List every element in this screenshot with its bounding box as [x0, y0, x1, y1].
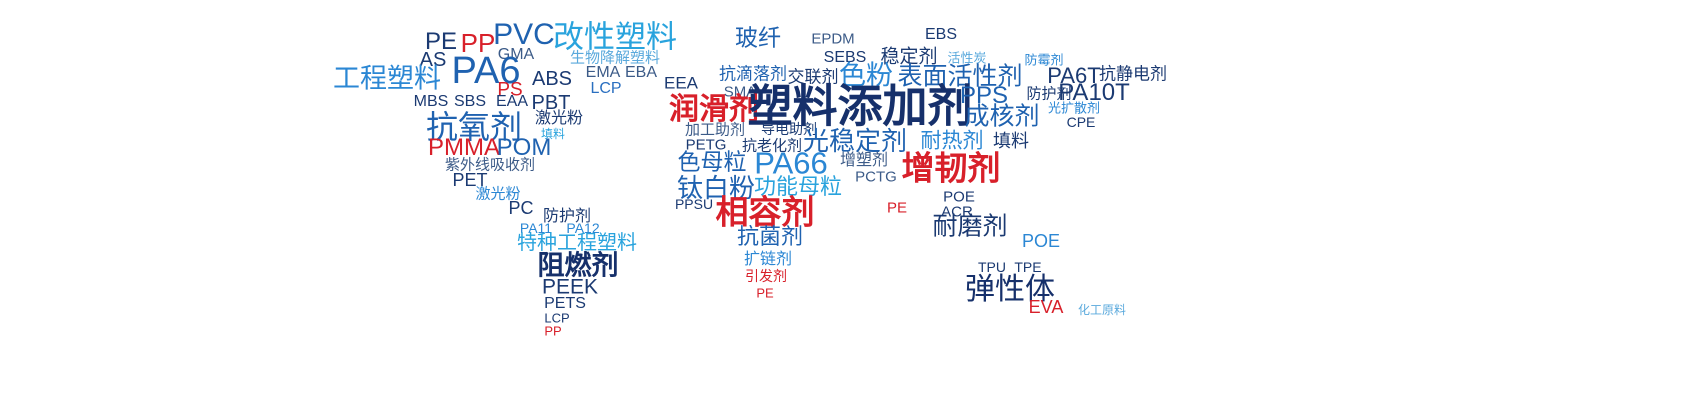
- word-cloud-term[interactable]: EMA: [586, 65, 621, 81]
- word-cloud-term[interactable]: POE: [1022, 232, 1060, 250]
- word-cloud-term[interactable]: ABS: [532, 69, 572, 89]
- word-cloud-term[interactable]: EVA: [1029, 298, 1064, 316]
- word-cloud-term[interactable]: EBA: [625, 65, 657, 81]
- word-cloud-term[interactable]: PC: [508, 199, 533, 217]
- word-cloud-term[interactable]: 成核剂: [964, 104, 1039, 129]
- word-cloud-term[interactable]: EBS: [925, 27, 957, 43]
- word-cloud-term[interactable]: EEA: [664, 75, 698, 92]
- word-cloud-term[interactable]: 增塑剂: [840, 152, 888, 168]
- word-cloud-term[interactable]: 激光粉: [535, 110, 583, 126]
- word-cloud-term[interactable]: PE: [756, 287, 773, 300]
- word-cloud-term[interactable]: 化工原料: [1078, 304, 1126, 316]
- word-cloud-term[interactable]: 相容剂: [716, 196, 815, 229]
- word-cloud-term[interactable]: 玻纤: [735, 28, 781, 51]
- word-cloud-term[interactable]: 引发剂: [745, 270, 787, 284]
- word-cloud-term[interactable]: LCP: [590, 81, 621, 97]
- word-cloud-term[interactable]: 工程塑料: [333, 66, 441, 93]
- word-cloud-term[interactable]: PP: [544, 325, 561, 338]
- word-cloud-term[interactable]: PPSU: [675, 197, 713, 211]
- word-cloud-term[interactable]: CPE: [1067, 115, 1096, 129]
- word-cloud-term[interactable]: PA66: [754, 148, 828, 179]
- word-cloud-canvas: PEPPPVCGMAASPA6ABS改性塑料生物降解塑料EMAEBALCPEEA…: [0, 0, 1707, 400]
- word-cloud-term[interactable]: 色母粒: [678, 152, 747, 175]
- word-cloud-term[interactable]: PCTG: [855, 170, 897, 185]
- word-cloud-term[interactable]: 抗菌剂: [737, 227, 803, 249]
- word-cloud-term[interactable]: POE: [943, 190, 975, 205]
- word-cloud-term[interactable]: 加工助剂: [685, 123, 745, 138]
- word-cloud-term[interactable]: 扩链剂: [744, 251, 792, 267]
- word-cloud-term[interactable]: 特种工程塑料: [517, 232, 637, 252]
- word-cloud-term[interactable]: 耐磨剂: [932, 214, 1007, 239]
- word-cloud-term[interactable]: 增韧剂: [902, 152, 1001, 185]
- word-cloud-term[interactable]: PE: [887, 201, 907, 216]
- word-cloud-term[interactable]: EPDM: [811, 32, 854, 47]
